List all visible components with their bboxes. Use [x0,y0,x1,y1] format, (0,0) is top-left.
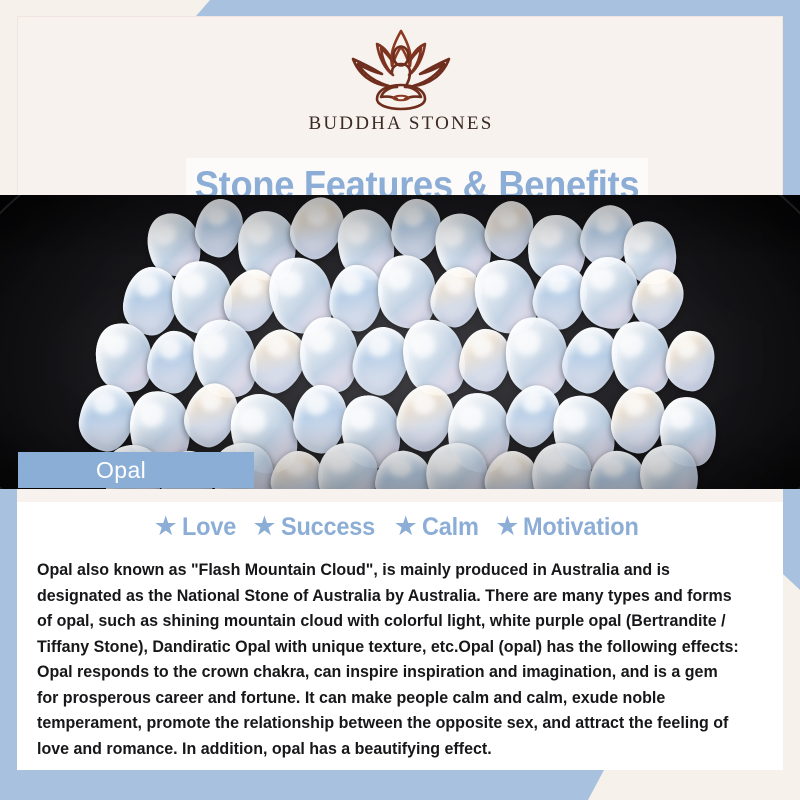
star-icon: ★ [495,513,519,540]
stone-name: Opal [96,457,146,484]
benefit-label: Motivation [523,513,639,542]
star-icon: ★ [252,513,276,540]
brand-logo: BUDDHA STONES [18,25,784,135]
benefit-label: Success [281,513,375,542]
photo-stone-cluster [0,195,800,489]
benefit-item-calm: ★ Calm [394,513,483,542]
benefit-label: Calm [422,513,479,542]
benefit-item-love: ★ Love [154,513,240,542]
brand-name: BUDDHA STONES [308,113,493,135]
product-photo [0,195,800,489]
star-icon: ★ [154,513,178,540]
header-section: BUDDHA STONES Stone Features & Benefits [17,16,783,196]
content-panel: ★ Love ★ Success ★ Calm ★ Motivation Opa… [17,489,783,770]
decor-top-blue-bar [0,0,800,16]
stone-description: Opal also known as "Flash Mountain Cloud… [37,557,741,761]
infographic-page: BUDDHA STONES Stone Features & Benefits [0,0,800,800]
lotus-meditating-figure-icon [335,25,467,111]
benefit-item-success: ★ Success [252,513,380,542]
benefits-row: ★ Love ★ Success ★ Calm ★ Motivation [17,513,783,542]
benefit-label: Love [182,513,236,542]
benefit-item-motivation: ★ Motivation [495,513,646,542]
decor-bottom-blue-bar [0,770,800,800]
star-icon: ★ [394,513,418,540]
stone-name-banner: Opal [18,452,254,488]
